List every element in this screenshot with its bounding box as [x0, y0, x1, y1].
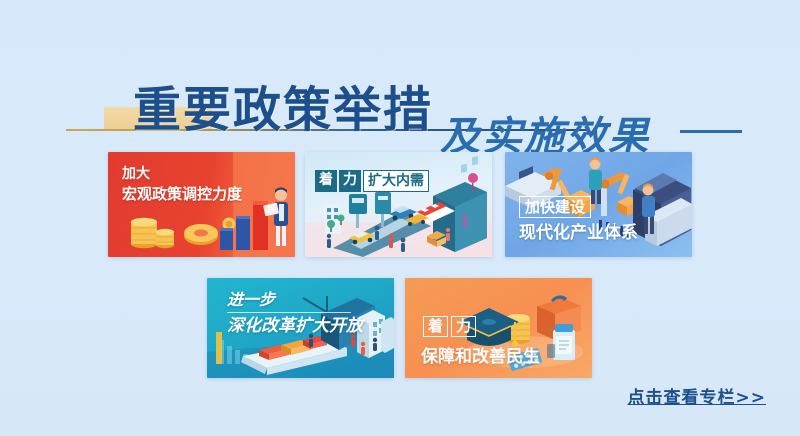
card-reform-opening-divider [227, 312, 351, 313]
card-livelihood-tags: 着 力 [423, 316, 479, 337]
page-title: 重要政策举措 [133, 70, 433, 140]
card-reform-opening-line2: 深化改革扩大开放 [227, 316, 363, 337]
card-domestic-demand-tags: 着 力 扩大内需 [315, 170, 429, 192]
poster-page: 重要政策举措 及实施效果 [0, 0, 800, 436]
card-livelihood[interactable]: 着 力 保障和改善民生 [405, 278, 592, 378]
card-modern-industry[interactable]: 加快建设 现代化产业体系 [505, 152, 692, 257]
card-domestic-demand[interactable]: 着 力 扩大内需 [305, 152, 492, 257]
card-macro-policy-line1: 加大 [122, 166, 242, 183]
view-column-link[interactable]: 点击查看专栏>> [628, 383, 767, 408]
card-macro-policy[interactable]: 加大 宏观政策调控力度 [108, 152, 295, 257]
card-livelihood-tag2: 力 [451, 316, 476, 337]
card-reform-opening-line1: 进一步 [227, 290, 363, 310]
card-modern-industry-line1: 加快建设 [519, 196, 591, 218]
card-domestic-demand-tag3: 扩大内需 [363, 170, 429, 192]
card-livelihood-line2: 保障和改善民生 [421, 342, 540, 367]
card-macro-policy-line2: 宏观政策调控力度 [122, 185, 242, 203]
card-reform-opening[interactable]: 进一步 深化改革扩大开放 [207, 278, 394, 378]
isometric-city-retail-illustration [305, 152, 492, 257]
card-domestic-demand-tag2: 力 [339, 170, 361, 192]
card-reform-opening-text: 进一步 深化改革扩大开放 [227, 290, 363, 336]
card-modern-industry-line2: 现代化产业体系 [519, 223, 638, 244]
card-livelihood-tag1: 着 [423, 316, 448, 337]
card-macro-policy-text: 加大 宏观政策调控力度 [122, 166, 242, 203]
header: 重要政策举措 及实施效果 [0, 30, 800, 130]
title-rule-right [680, 130, 742, 133]
card-domestic-demand-tag1: 着 [315, 170, 337, 192]
card-modern-industry-text: 加快建设 现代化产业体系 [519, 196, 638, 244]
